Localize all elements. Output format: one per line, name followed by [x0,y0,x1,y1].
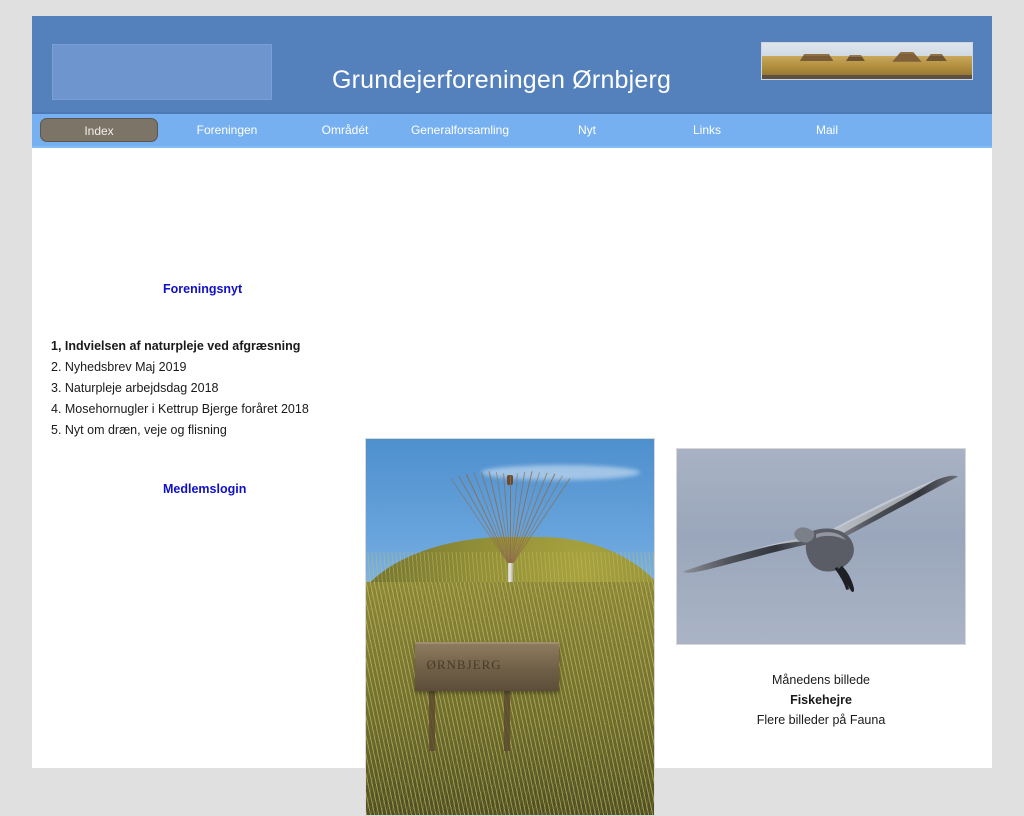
news-list: 1, Indvielsen af naturpleje ved afgræsni… [51,336,361,441]
caption-bird-name: Fiskehejre [676,690,966,710]
heron-illustration [677,449,965,644]
foreningsnyt-link[interactable]: Foreningsnyt [163,282,242,296]
nav-item-generalforsamling[interactable]: Generalforsamling [380,118,540,142]
news-item[interactable]: 2. Nyhedsbrev Maj 2019 [51,357,361,378]
main-content: Foreningsnyt 1, Indvielsen af naturpleje… [32,148,992,766]
medlemslogin-link[interactable]: Medlemslogin [163,482,246,496]
ornbjerg-sign-photo[interactable]: ØRNBJERG [365,438,655,816]
nav-item-nyt[interactable]: Nyt [532,118,642,142]
nav-item-mail[interactable]: Mail [772,118,882,142]
page-container: Grundejerforeningen Ørnbjerg IndexForeni… [32,16,992,768]
header-photo-house [800,54,834,61]
caption-line-1: Månedens billede [676,670,966,690]
photo-grass-foreground [366,582,654,815]
fauna-link[interactable]: Flere billeder på Fauna [676,710,966,730]
news-item[interactable]: 5. Nyt om dræn, veje og flisning [51,420,361,441]
news-item[interactable]: 1, Indvielsen af naturpleje ved afgræsni… [51,336,361,357]
nav-item-links[interactable]: Links [652,118,762,142]
nav-item-foreningen[interactable]: Foreningen [172,118,282,142]
site-title: Grundejerforeningen Ørnbjerg [332,66,671,95]
header-photo-foreground [762,75,972,79]
photo-caption: Månedens billede Fiskehejre Flere billed… [676,670,966,730]
heron-photo[interactable] [676,448,966,645]
news-item[interactable]: 3. Naturpleje arbejdsdag 2018 [51,378,361,399]
site-header: Grundejerforeningen Ørnbjerg [32,16,992,114]
logo-placeholder[interactable] [52,44,272,100]
photo-sign-leg [504,691,510,751]
header-landscape-photo [761,42,973,80]
main-navigation: IndexForeningenOmrådétGeneralforsamlingN… [32,114,992,148]
photo-wooden-sign: ØRNBJERG [415,642,559,691]
photo-sign-leg [429,691,435,751]
photo-sign-text: ØRNBJERG [426,657,501,673]
news-item[interactable]: 4. Mosehornugler i Kettrup Bjerge foråre… [51,399,361,420]
nav-item-index[interactable]: Index [40,118,158,142]
photo-marker-broom [475,443,544,567]
